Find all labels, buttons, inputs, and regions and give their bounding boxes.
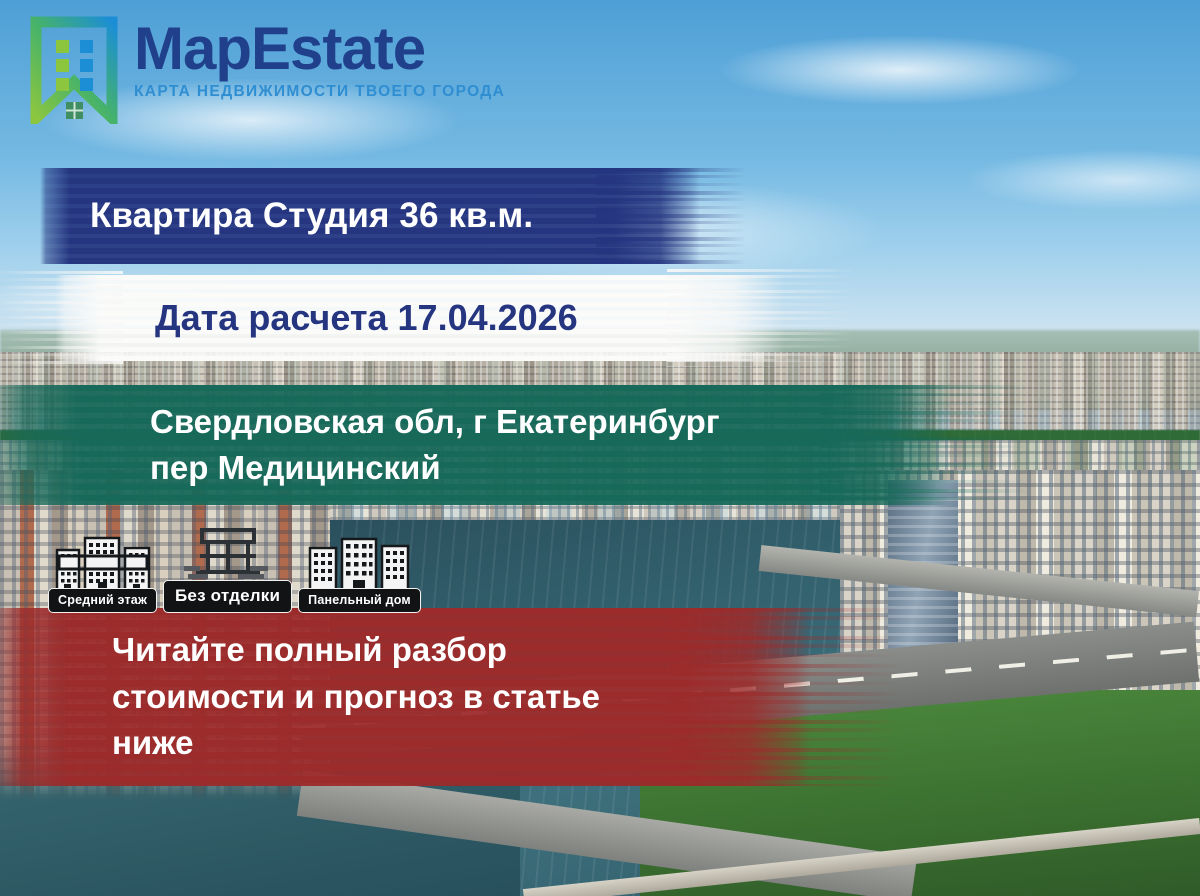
feature-label: Средний этаж [48, 588, 157, 613]
date-banner: Дата расчета 17.04.2026 [55, 275, 785, 361]
feature-badge-panel-house[interactable]: Панельный дом [298, 536, 421, 613]
brand-name: MapEstate [134, 20, 505, 77]
feature-label: Без отделки [163, 580, 292, 613]
feature-badge-unfinished[interactable]: Без отделки [163, 522, 292, 613]
date-text: Дата расчета 17.04.2026 [55, 297, 785, 339]
title-banner: Квартира Студия 36 кв.м. [40, 168, 700, 264]
feature-badge-mid-floor[interactable]: Средний этаж [48, 536, 157, 613]
poster: MapEstate КАРТА НЕДВИЖИМОСТИ ТВОЕГО ГОРО… [0, 0, 1200, 896]
feature-badges: Средний этаж Б [48, 522, 421, 613]
address-line-2: пер Медицинский [150, 445, 950, 491]
mid-floor-building-icon [55, 536, 151, 596]
bookmark-building-icon [28, 16, 120, 124]
address-banner: Свердловская обл, г Екатеринбург пер Мед… [0, 385, 950, 505]
title-text: Квартира Студия 36 кв.м. [40, 196, 700, 236]
brand-tagline: КАРТА НЕДВИЖИМОСТИ ТВОЕГО ГОРОДА [134, 83, 505, 101]
cta-line-2: стоимости и прогноз в статье [112, 674, 810, 721]
address-text-block: Свердловская обл, г Екатеринбург пер Мед… [0, 399, 950, 490]
feature-label: Панельный дом [298, 588, 421, 613]
address-line-1: Свердловская обл, г Екатеринбург [150, 399, 950, 445]
cta-line-3: ниже [112, 720, 810, 767]
cta-text-block: Читайте полный разбор стоимости и прогно… [0, 627, 810, 768]
brand-logo[interactable]: MapEstate КАРТА НЕДВИЖИМОСТИ ТВОЕГО ГОРО… [28, 16, 505, 124]
cta-line-1: Читайте полный разбор [112, 627, 810, 674]
brand-text-block: MapEstate КАРТА НЕДВИЖИМОСТИ ТВОЕГО ГОРО… [134, 16, 505, 101]
panel-house-icon [307, 536, 411, 596]
cta-banner: Читайте полный разбор стоимости и прогно… [0, 608, 810, 786]
unfinished-frame-icon [178, 522, 278, 588]
